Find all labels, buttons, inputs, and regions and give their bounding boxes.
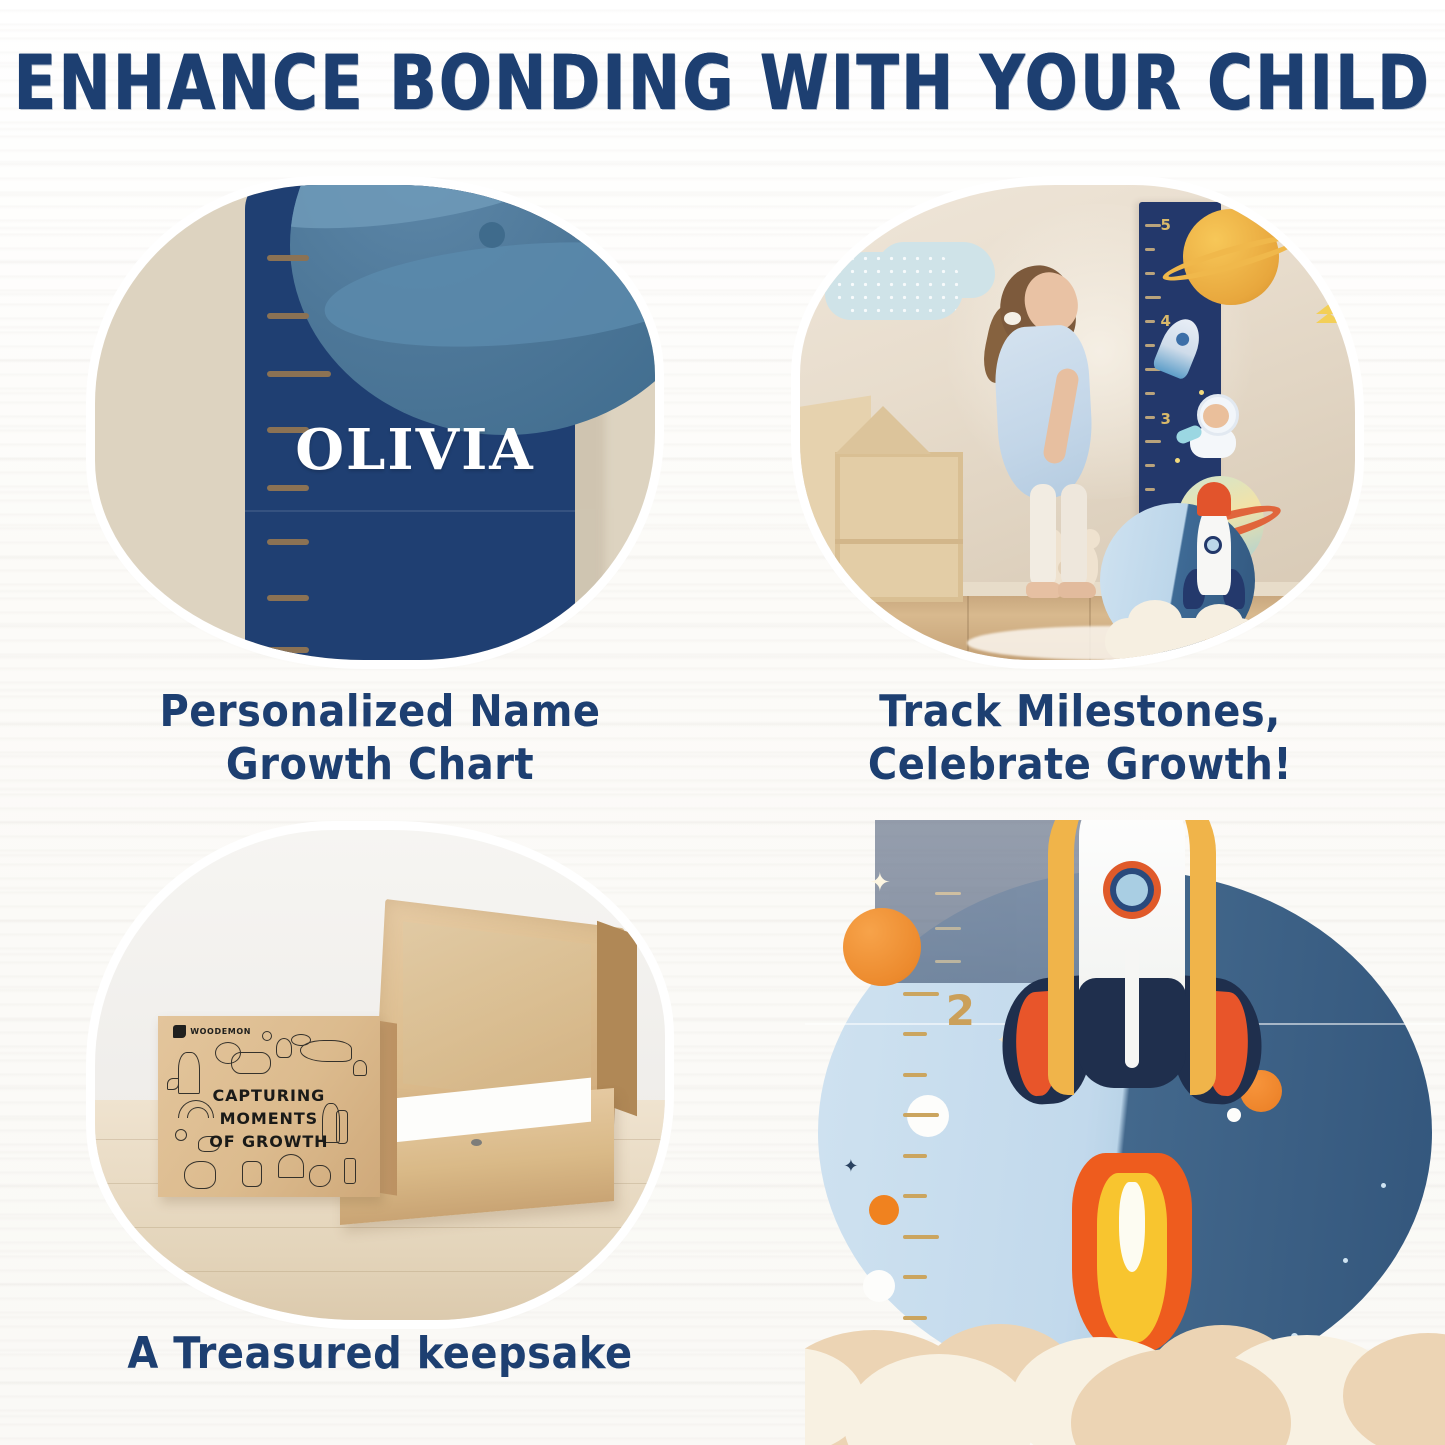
chart-divider-line [245,510,575,512]
open-box-lid-inner [403,921,591,1106]
plush-toy [806,626,868,660]
caption-panel-1: Personalized Name Growth Chart [95,686,665,791]
caption-panel-1-line-1: Personalized Name [95,686,665,739]
sparkle-icon-4: ✦ [843,1158,858,1176]
brand-mark-icon [173,1025,186,1038]
brand-name-text: WOODEMON [190,1027,251,1036]
house-shelf [800,402,967,602]
panel-rocket-hero[interactable]: ✦ ✦ ✦ ✦ ✦ 2 [805,820,1445,1445]
caption-panel-3: A Treasured keepsake [60,1328,700,1381]
saturn-planet-graphic [1183,209,1279,305]
astronaut-graphic [1177,394,1247,460]
caption-panel-2-line-2: Celebrate Growth! [800,739,1360,792]
rocket-illustration [997,820,1267,1270]
rocket-cloud-base [1105,618,1265,660]
personalized-name-text: OLIVIA [270,417,560,483]
caption-panel-3-line-1: A Treasured keepsake [60,1328,700,1381]
page-title: ENHANCE BONDING WITH YOUR CHILD [0,38,1445,127]
open-box-flap [597,921,637,1117]
yellow-star-graphic [1316,304,1342,314]
panel-2-frame: 5 4 3 2 [800,185,1355,660]
cloud-wall-light [833,252,963,320]
box-tagline-line-2: MOMENTS [158,1108,380,1131]
caption-panel-2: Track Milestones, Celebrate Growth! [800,686,1360,791]
box-tagline: CAPTURING MOMENTS OF GROWTH [158,1085,380,1153]
box-tagline-line-3: OF GROWTH [158,1131,380,1154]
box-tagline-line-1: CAPTURING [158,1085,380,1108]
kraft-box-front: WOODEMON CAPTURING MOMENTS OF GROWTH [158,1016,380,1197]
panel-lifestyle-room[interactable]: 5 4 3 2 [800,185,1355,660]
star-dot-3 [1381,1183,1386,1188]
caption-panel-2-line-1: Track Milestones, [800,686,1360,739]
panel-product-closeup[interactable]: OLIVIA 5 [95,185,655,660]
ruler-number-2: 2 [946,986,975,1035]
exhaust-cloud-plumes [805,1233,1445,1445]
panel-3-frame: WOODEMON CAPTURING MOMENTS OF GROWTH [95,830,665,1320]
orange-planet-large [843,908,921,986]
panel-packaging[interactable]: WOODEMON CAPTURING MOMENTS OF GROWTH [95,830,665,1320]
sparkle-icon-1: ✦ [869,870,891,896]
brand-logo: WOODEMON [173,1025,251,1038]
box-contents-handle [471,1139,482,1146]
caption-panel-1-line-2: Growth Chart [95,739,665,792]
panel-1-frame: OLIVIA 5 [95,185,655,660]
